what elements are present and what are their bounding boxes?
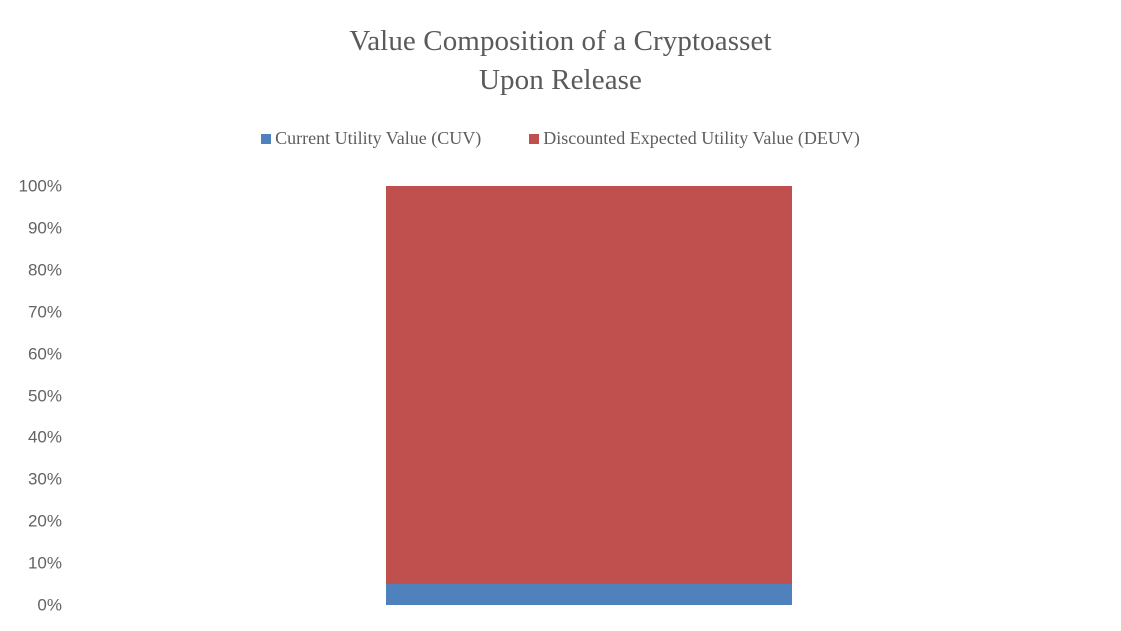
legend-item-deuv[interactable]: Discounted Expected Utility Value (DEUV) bbox=[529, 128, 860, 149]
y-tick-label: 0% bbox=[0, 597, 62, 614]
plot-area bbox=[62, 186, 1062, 605]
y-tick-label: 100% bbox=[0, 178, 62, 195]
legend-item-cuv[interactable]: Current Utility Value (CUV) bbox=[261, 128, 481, 149]
legend-swatch-cuv-icon bbox=[261, 134, 271, 144]
legend-swatch-deuv-icon bbox=[529, 134, 539, 144]
y-tick-label: 20% bbox=[0, 513, 62, 530]
y-tick-label: 80% bbox=[0, 261, 62, 278]
chart-title: Value Composition of a Cryptoasset Upon … bbox=[0, 22, 1121, 100]
y-tick-label: 70% bbox=[0, 303, 62, 320]
legend-label-cuv: Current Utility Value (CUV) bbox=[275, 128, 481, 149]
legend-label-deuv: Discounted Expected Utility Value (DEUV) bbox=[543, 128, 860, 149]
y-axis: 100% 90% 80% 70% 60% 50% 40% 30% 20% 10%… bbox=[0, 186, 62, 605]
bar-segment-cuv[interactable] bbox=[386, 584, 792, 605]
chart-canvas: Value Composition of a Cryptoasset Upon … bbox=[0, 0, 1121, 631]
y-tick-label: 60% bbox=[0, 345, 62, 362]
bar-segment-deuv[interactable] bbox=[386, 186, 792, 584]
chart-legend: Current Utility Value (CUV) Discounted E… bbox=[0, 128, 1121, 149]
y-tick-label: 90% bbox=[0, 219, 62, 236]
y-tick-label: 40% bbox=[0, 429, 62, 446]
y-tick-label: 30% bbox=[0, 471, 62, 488]
y-tick-label: 50% bbox=[0, 387, 62, 404]
y-tick-label: 10% bbox=[0, 555, 62, 572]
stacked-bar-upon-release[interactable] bbox=[386, 186, 792, 605]
